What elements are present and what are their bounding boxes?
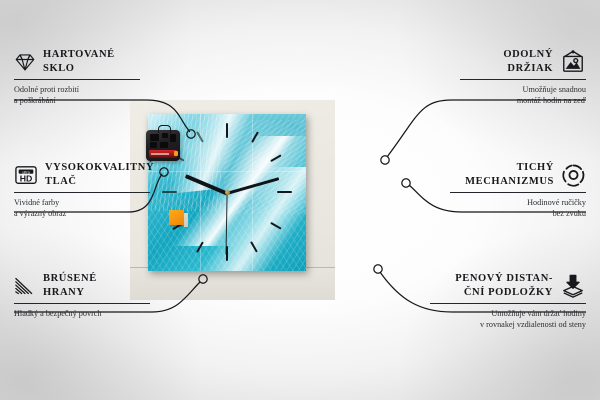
feature-title: TICHÝ MECHANIZMUS: [465, 161, 554, 188]
feature-divider: [460, 79, 586, 80]
clock-battery: [149, 150, 177, 158]
clock-mechanism-box: [146, 130, 180, 161]
feature-divider: [14, 79, 140, 80]
feature-header: ODOLNÝ DRŽIAK: [446, 48, 586, 75]
feature-description: Hladký a bezpečný povrch: [14, 308, 164, 319]
feature-description-line: Umožňuje snadnou: [446, 84, 586, 95]
connector-dot-silent-mechanism: [402, 179, 410, 187]
svg-text:HD: HD: [20, 173, 33, 183]
foam-spacer-pad: [169, 210, 184, 225]
feature-divider: [14, 192, 150, 193]
feature-description-line: bez zvuku: [436, 208, 586, 219]
feature-description: Vividné farby a výrazný obraz: [14, 197, 164, 219]
feature-description-line: Umožňuje vám držať hodiny: [416, 308, 586, 319]
connector-dot-foam-spacers: [374, 265, 382, 273]
arrow-onto-pad-icon: [560, 274, 586, 298]
feature-divider: [450, 192, 586, 193]
feature-title-line: TLAČ: [45, 175, 154, 189]
feature-description-line: a poškrábání: [14, 95, 154, 106]
feature-description-line: Hodinové ručičky: [436, 197, 586, 208]
feature-title: BRÚSENÉ HRANY: [43, 272, 97, 299]
feature-title-line: HARTOVANÉ: [43, 48, 115, 62]
feature-header: BRÚSENÉ HRANY: [14, 272, 164, 299]
feature-description: Umožňuje vám držať hodiny v rovnakej vzd…: [416, 308, 586, 330]
feature-description: Hodinové ručičky bez zvuku: [436, 197, 586, 219]
feature-tempered-glass: HARTOVANÉ SKLO Odolné proti rozbití a po…: [14, 48, 154, 106]
picture-frame-icon: [560, 50, 586, 74]
feature-description-line: v rovnakej vzdialenosti od steny: [416, 319, 586, 330]
feature-title: PENOVÝ DISTAN- ČNÍ PODLOŽKY: [455, 272, 553, 299]
feature-title-line: TICHÝ: [465, 161, 554, 175]
clock-center-hub: [225, 190, 230, 195]
feature-title-line: SKLO: [43, 62, 115, 76]
feature-title-line: ČNÍ PODLOŽKY: [455, 286, 553, 300]
feature-divider: [430, 303, 586, 304]
feature-title: VYSOKOKVALITNÝ TLAČ: [45, 161, 154, 188]
feature-header: HARTOVANÉ SKLO: [14, 48, 154, 75]
diamond-icon: [14, 52, 36, 72]
feature-header: ultra HD VYSOKOKVALITNÝ TLAČ: [14, 161, 164, 188]
feature-silent-mechanism: TICHÝ MECHANIZMUS Hodinové ručičky bez z…: [436, 161, 586, 219]
gear-icon: [561, 163, 586, 187]
feature-title: ODOLNÝ DRŽIAK: [503, 48, 553, 75]
feature-title-line: MECHANIZMUS: [465, 175, 554, 189]
battery-positive-terminal: [174, 151, 178, 156]
connector-dot-durable-hanger: [381, 156, 389, 164]
feature-foam-spacers: PENOVÝ DISTAN- ČNÍ PODLOŽKY Umožňuje vám…: [416, 272, 586, 330]
feature-durable-hanger: ODOLNÝ DRŽIAK Umožňuje snadnou montáž ho…: [446, 48, 586, 106]
feature-title-line: BRÚSENÉ: [43, 272, 97, 286]
feature-description-line: montáž hodin na zeď: [446, 95, 586, 106]
feature-description: Odolné proti rozbití a poškrábání: [14, 84, 154, 106]
feature-title-line: DRŽIAK: [503, 62, 553, 76]
infographic-canvas: HARTOVANÉ SKLO Odolné proti rozbití a po…: [0, 0, 600, 400]
feature-title: HARTOVANÉ SKLO: [43, 48, 115, 75]
feature-title-line: ODOLNÝ: [503, 48, 553, 62]
feature-title-line: HRANY: [43, 286, 97, 300]
clock-tick-12: [226, 123, 228, 138]
feature-description-line: a výrazný obraz: [14, 208, 164, 219]
clock-tick-9: [162, 191, 177, 193]
feature-polished-edges: BRÚSENÉ HRANY Hladký a bezpečný povrch: [14, 272, 164, 319]
feature-title-line: VYSOKOKVALITNÝ: [45, 161, 154, 175]
connector-durable-hanger: [387, 100, 586, 157]
feature-divider: [14, 303, 150, 304]
feature-description: Umožňuje snadnou montáž hodin na zeď: [446, 84, 586, 106]
clock-tick-3: [277, 191, 292, 193]
feature-description-line: Odolné proti rozbití: [14, 84, 154, 95]
feature-high-quality-print: ultra HD VYSOKOKVALITNÝ TLAČ Vividné far…: [14, 161, 164, 219]
feature-title-line: PENOVÝ DISTAN-: [455, 272, 553, 286]
feature-description-line: Hladký a bezpečný povrch: [14, 308, 164, 319]
mechanism-hanger-hook: [158, 125, 171, 133]
ultra-hd-icon: ultra HD: [14, 164, 38, 186]
feature-description-line: Vividné farby: [14, 197, 164, 208]
feature-header: TICHÝ MECHANIZMUS: [436, 161, 586, 188]
feature-header: PENOVÝ DISTAN- ČNÍ PODLOŽKY: [416, 272, 586, 299]
hatched-edge-icon: [14, 276, 36, 296]
